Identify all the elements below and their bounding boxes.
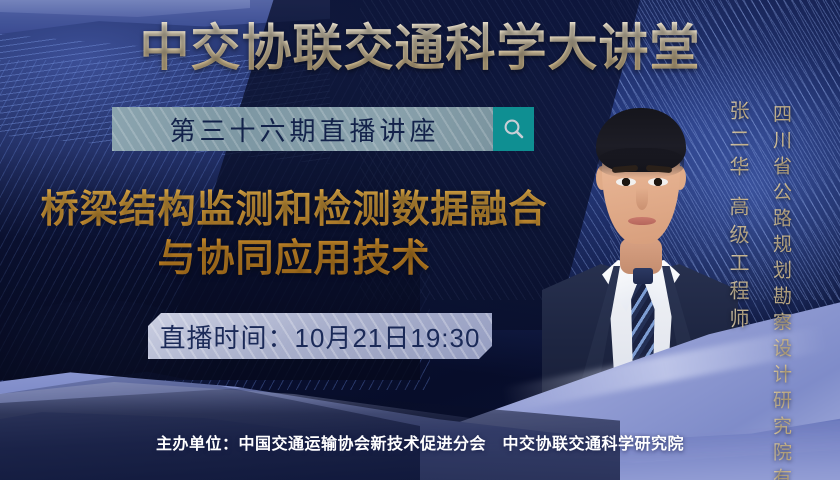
live-lecture-poster: 中交协联交通科学大讲堂 中交协联交通科学大讲堂 第三十六期直播讲座 桥梁结构监测… xyxy=(0,0,840,480)
portrait-tie-knot xyxy=(633,268,653,284)
portrait-eye-right xyxy=(648,178,668,186)
speaker-name: 张二华 xyxy=(723,100,752,184)
speaker-job-title: 高级工程师 xyxy=(723,196,752,336)
session-bar-body: 第三十六期直播讲座 xyxy=(112,107,493,151)
search-icon xyxy=(502,117,526,141)
portrait-hair-shadow xyxy=(598,148,684,178)
broadcast-time-label: 直播时间：10月21日19:30 xyxy=(160,318,481,355)
portrait-eye-left xyxy=(616,178,636,186)
search-icon-box[interactable] xyxy=(493,107,534,151)
speaker-organization: 四川省公路规划勘察设计研究院有限公司 xyxy=(767,104,794,480)
session-bar: 第三十六期直播讲座 xyxy=(112,107,534,151)
portrait-mouth xyxy=(628,217,656,225)
page-title: 中交协联交通科学大讲堂 xyxy=(110,14,730,82)
broadcast-time-plate: 直播时间：10月21日19:30 xyxy=(148,313,492,359)
lecture-topic-line1: 桥梁结构监测和检测数据融合 xyxy=(24,186,564,235)
portrait-nose xyxy=(636,188,648,210)
lecture-topic-line2: 与协同应用技术 xyxy=(24,235,564,284)
speaker-portrait xyxy=(540,78,740,378)
lecture-topic: 桥梁结构监测和检测数据融合 与协同应用技术 xyxy=(24,186,564,283)
organizers-line: 主办单位：中国交通运输协会新技术促进分会 中交协联交通科学研究院 xyxy=(0,430,840,454)
session-label: 第三十六期直播讲座 xyxy=(165,111,439,148)
